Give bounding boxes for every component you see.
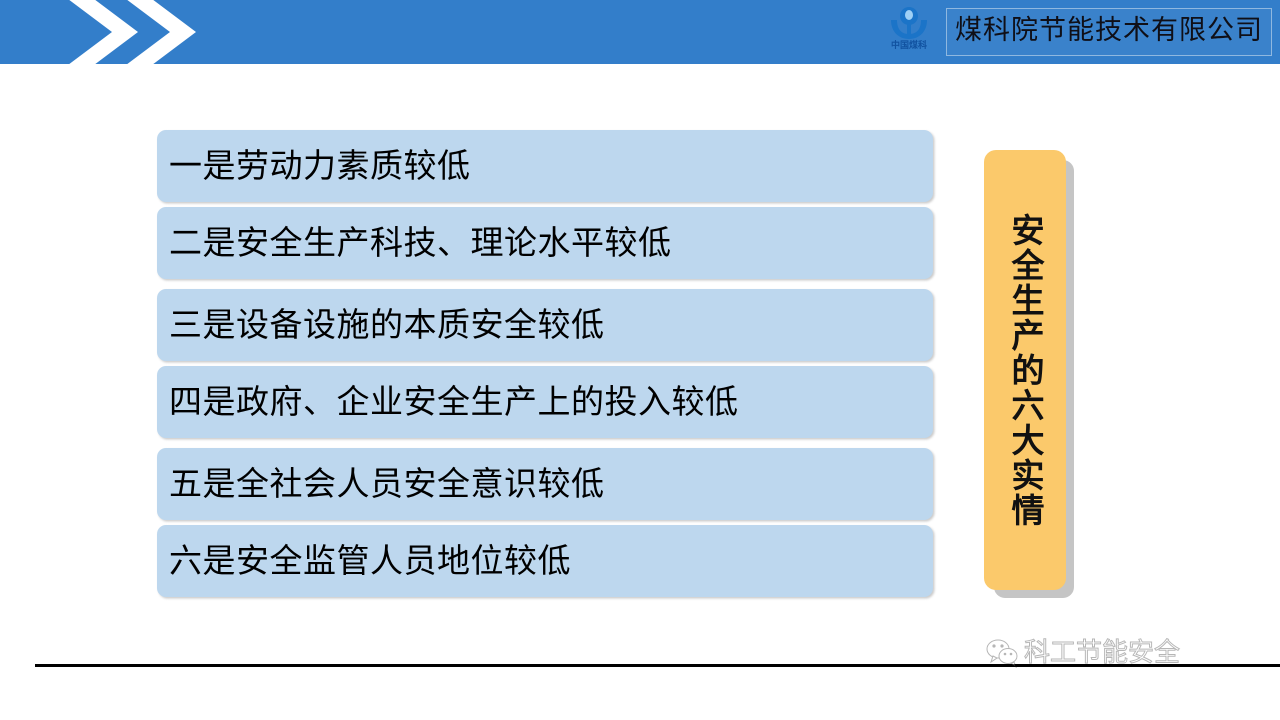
spacer [157,279,933,289]
logo-block: 中国煤科 [878,3,940,61]
list-item[interactable]: 二是安全生产科技、理论水平较低 [157,207,933,279]
list-item-label: 二是安全生产科技、理论水平较低 [169,223,672,263]
company-title-box: 煤科院节能技术有限公司 [946,8,1272,56]
side-panel-callout[interactable]: 安全生产的六大实情 [984,150,1066,590]
list-item[interactable]: 三是设备设施的本质安全较低 [157,289,933,361]
list-item-label: 六是安全监管人员地位较低 [169,541,571,581]
company-title: 煤科院节能技术有限公司 [955,16,1263,46]
list-item-label: 五是全社会人员安全意识较低 [169,464,605,504]
side-panel-label: 安全生产的六大实情 [1002,213,1048,528]
watermark-label: 科工节能安全 [1024,638,1180,668]
list-item[interactable]: 五是全社会人员安全意识较低 [157,448,933,520]
list-item[interactable]: 六是安全监管人员地位较低 [157,525,933,597]
list-item[interactable]: 四是政府、企业安全生产上的投入较低 [157,366,933,438]
list-item-label: 三是设备设施的本质安全较低 [169,305,605,345]
header-brand: 中国煤科 煤科院节能技术有限公司 [878,0,1272,64]
wechat-icon [985,638,1019,668]
double-chevron-right-icon [52,0,212,64]
reason-list: 一是劳动力素质较低 二是安全生产科技、理论水平较低 三是设备设施的本质安全较低 … [157,130,933,597]
list-item-label: 一是劳动力素质较低 [169,146,471,186]
header-bar: 中国煤科 煤科院节能技术有限公司 [0,0,1280,64]
china-coal-science-logo-icon [887,6,931,40]
spacer [157,438,933,448]
list-item-label: 四是政府、企业安全生产上的投入较低 [169,382,739,422]
list-item[interactable]: 一是劳动力素质较低 [157,130,933,202]
logo-caption: 中国煤科 [891,41,927,52]
footer-watermark: 科工节能安全 [985,638,1180,668]
